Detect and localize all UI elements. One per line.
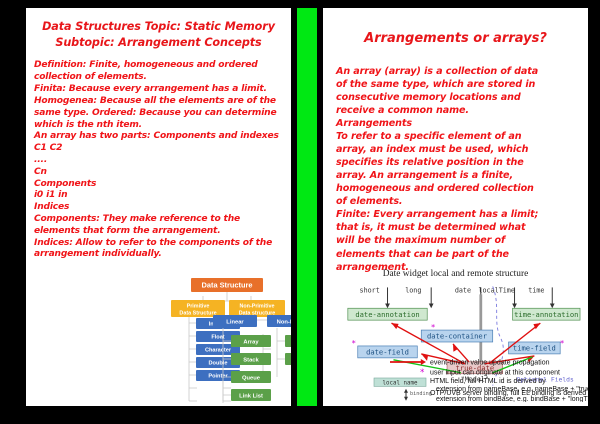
svg-text:Queue: Queue [242, 375, 261, 381]
dw-label-time: time [528, 286, 544, 294]
svg-text:Link List: Link List [239, 393, 263, 399]
svg-text:Non-Primitive: Non-Primitive [239, 303, 274, 309]
dw-node-time-annotation: time-annotation [513, 308, 580, 320]
svg-text:date-container: date-container [427, 332, 488, 341]
legend-item-0: event-driven value update propagation [430, 359, 550, 366]
legend-item-1: user input can originate at this compone… [430, 369, 560, 376]
svg-text:Linear: Linear [226, 319, 244, 325]
dw-node-date-annotation: date-annotation [348, 308, 427, 320]
legend-item-3-line2: extension from bindBase, e.g. bindBase +… [436, 396, 588, 402]
svg-text:Primitive: Primitive [187, 303, 210, 309]
svg-text:time-annotation: time-annotation [514, 310, 578, 319]
data-structure-tree-branches: Linear Non-linear Array Stack Queue [209, 315, 291, 406]
dw-node-time-field: time-field [509, 342, 561, 354]
svg-text:time-field: time-field [513, 344, 556, 353]
dw-label-long: long [405, 286, 421, 294]
svg-text:Stack: Stack [243, 357, 259, 363]
svg-text:*: * [352, 339, 356, 348]
green-divider [297, 8, 317, 406]
svg-text:date-annotation: date-annotation [355, 310, 419, 319]
dw-label-date: date [455, 286, 471, 294]
legend-item-2-line1: HTML field, full HTML id is derived by [430, 378, 546, 385]
right-panel-body-text: An array (array) is a collection of data… [336, 65, 541, 274]
svg-text:local name: local name [383, 380, 418, 386]
svg-text:Non-linear: Non-linear [277, 319, 291, 325]
ds-node-root: Data Structure [202, 281, 253, 290]
left-panel-body-text: Definition: Finite, homogeneous and orde… [34, 60, 286, 261]
date-widget-caption: Date widget local and remote structure [328, 269, 583, 279]
svg-text:*: * [560, 339, 564, 348]
dw-label-short: short [360, 286, 380, 294]
left-panel-title: Data Structures Topic: Static Memory Sub… [36, 19, 281, 51]
svg-text:binding: binding [410, 391, 432, 397]
svg-text:*: * [431, 323, 435, 332]
slide-root: Data Structures Topic: Static Memory Sub… [0, 0, 600, 424]
left-slide-panel: Data Structures Topic: Static Memory Sub… [26, 8, 291, 406]
dw-label-localtime: localTime [478, 286, 514, 294]
date-widget-legend: event-driven value update propagation * … [326, 356, 588, 402]
svg-text:*: * [420, 368, 425, 378]
svg-text:Array: Array [243, 339, 259, 345]
right-panel-title: Arrangements or arrays? [331, 30, 580, 49]
